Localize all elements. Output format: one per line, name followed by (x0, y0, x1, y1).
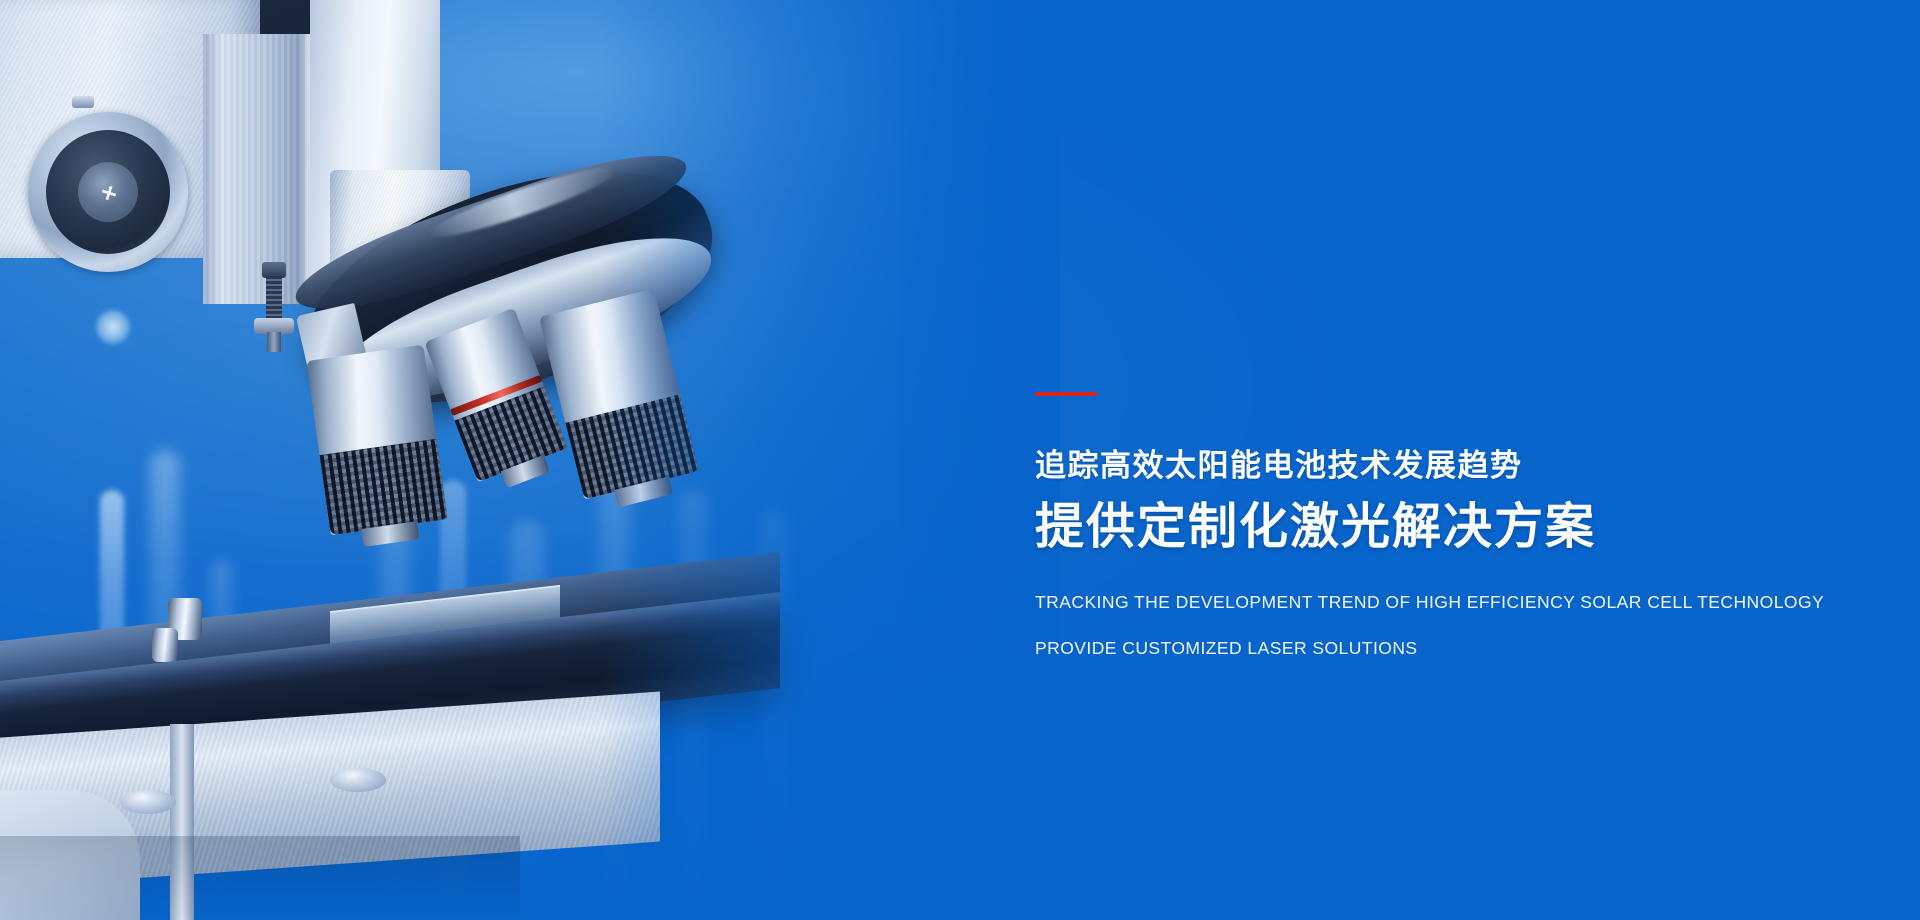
focus-knob-face (46, 130, 170, 254)
hero-subtitle-en-line-2: PROVIDE CUSTOMIZED LASER SOLUTIONS (1035, 640, 1835, 658)
microscope-illustration (0, 0, 900, 920)
focus-knob-hub (78, 162, 138, 222)
slide-clip-post-b (152, 628, 178, 662)
base-bolt-right (330, 768, 386, 792)
base-shadow (0, 836, 520, 920)
hero-subheadline-cn: 追踪高效太阳能电池技术发展趋势 (1035, 450, 1835, 481)
upper-screw (72, 96, 94, 108)
coarse-focus-knob (28, 112, 188, 272)
hero-subtitle-en-line-1: TRACKING THE DEVELOPMENT TREND OF HIGH E… (1035, 594, 1835, 612)
objective-lens-yellow (306, 345, 447, 536)
phillips-screw-icon (100, 184, 118, 202)
hero-headline-cn: 提供定制化激光解决方案 (1035, 503, 1835, 552)
hero-banner: 追踪高效太阳能电池技术发展趋势 提供定制化激光解决方案 TRACKING THE… (0, 0, 1920, 920)
hero-text-block: 追踪高效太阳能电池技术发展趋势 提供定制化激光解决方案 TRACKING THE… (1035, 392, 1835, 657)
base-bolt-left (120, 790, 176, 814)
red-accent-rule (1035, 392, 1097, 396)
